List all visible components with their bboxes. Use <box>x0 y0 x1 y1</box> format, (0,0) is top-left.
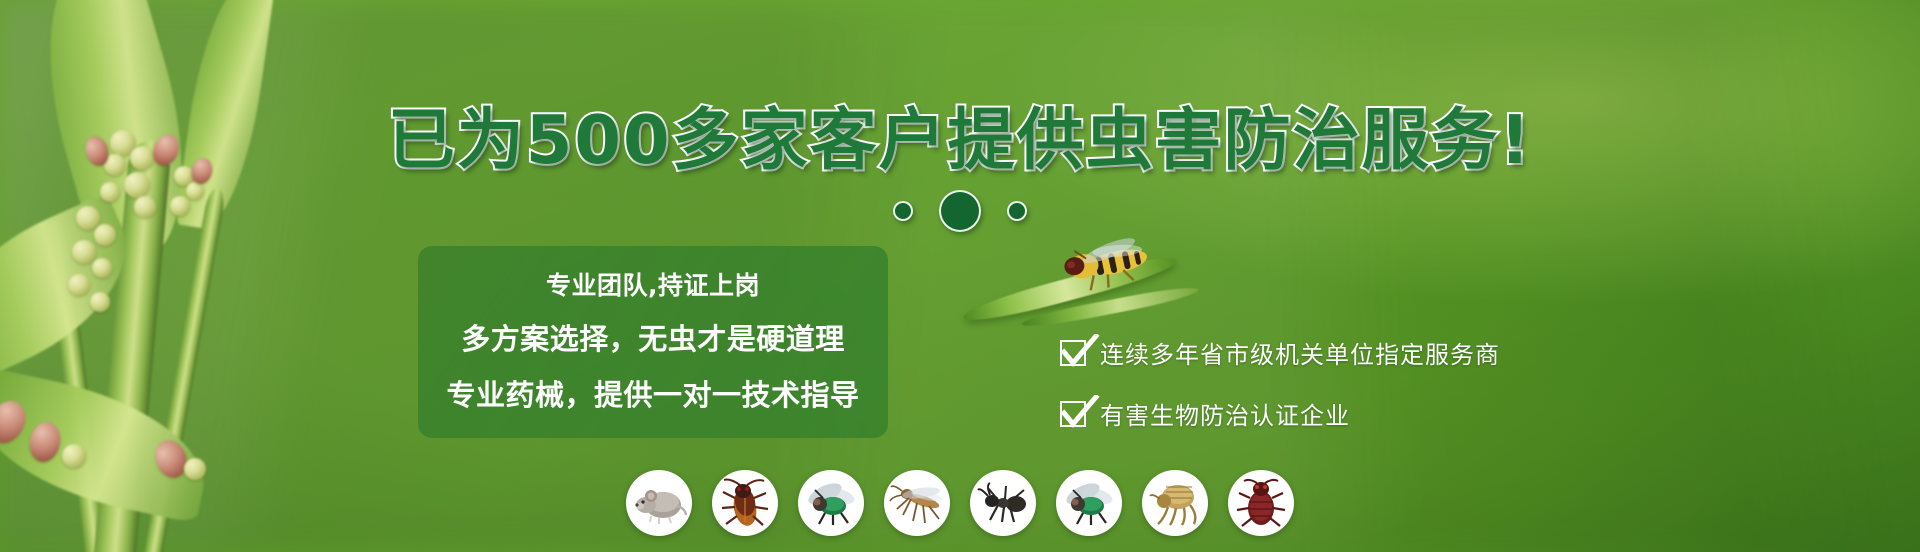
pest-icon-flea[interactable] <box>1142 470 1208 536</box>
pest-icon-mosquito[interactable] <box>884 470 950 536</box>
checklist-item: 有害生物防治认证企业 <box>1060 396 1500 431</box>
checklist-item-label: 有害生物防治认证企业 <box>1100 396 1350 431</box>
dot-small-right <box>1007 201 1027 221</box>
panel-line-1: 专业团队,持证上岗 <box>546 266 760 302</box>
pest-icon-bedbug[interactable] <box>1228 470 1294 536</box>
mosquito-icon <box>889 479 945 527</box>
cockroach-icon <box>718 478 772 528</box>
pest-icon-cockroach[interactable] <box>712 470 778 536</box>
credentials-checklist: 连续多年省市级机关单位指定服务商 有害生物防治认证企业 <box>1060 335 1500 431</box>
fly-icon <box>1061 480 1117 526</box>
pest-icon-fly-2[interactable] <box>1056 470 1122 536</box>
checkbox-checked-icon <box>1060 401 1086 427</box>
bedbug-icon <box>1235 478 1287 528</box>
flea-icon <box>1148 479 1202 527</box>
ant-icon <box>976 480 1030 526</box>
pest-control-hero-banner: 已为500多家客户提供虫害防治服务! 专业团队,持证上岗 多方案选择，无虫才是硬… <box>0 0 1920 552</box>
dot-small-left <box>893 201 913 221</box>
selling-points-panel: 专业团队,持证上岗 多方案选择，无虫才是硬道理 专业药械，提供一对一技术指导 <box>418 246 888 438</box>
pest-icon-ant[interactable] <box>970 470 1036 536</box>
pest-icon-fly[interactable] <box>798 470 864 536</box>
panel-line-3: 专业药械，提供一对一技术指导 <box>446 372 859 414</box>
mouse-icon <box>631 480 687 526</box>
pest-icon-mouse[interactable] <box>626 470 692 536</box>
panel-line-2: 多方案选择，无虫才是硬道理 <box>461 316 845 358</box>
checklist-item-label: 连续多年省市级机关单位指定服务商 <box>1100 335 1500 370</box>
decorative-dot-row <box>0 190 1920 232</box>
dot-large-center <box>939 190 981 232</box>
hero-headline: 已为500多家客户提供虫害防治服务! <box>0 86 1920 183</box>
checklist-item: 连续多年省市级机关单位指定服务商 <box>1060 335 1500 370</box>
pest-icon-row <box>0 470 1920 536</box>
fly-icon <box>803 480 859 526</box>
checkbox-checked-icon <box>1060 340 1086 366</box>
